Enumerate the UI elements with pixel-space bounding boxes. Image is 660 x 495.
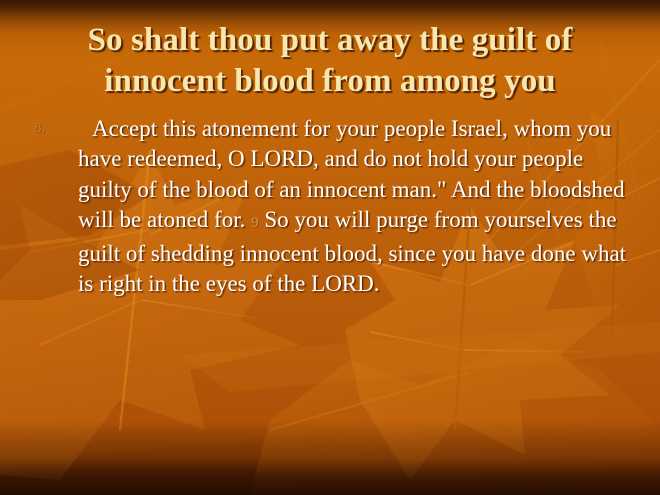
leaf-highlight-sweeps (0, 322, 660, 462)
scripture-paragraph: 8.Accept this atonement for your people … (34, 114, 628, 299)
verse-number-marker: 8. (34, 118, 45, 138)
inline-verse-number-marker: 9 (251, 215, 259, 231)
leaf-shape-center (250, 340, 660, 495)
presentation-slide: So shalt thou put away the guilt of inno… (0, 0, 660, 495)
slide-title: So shalt thou put away the guilt of inno… (26, 20, 634, 102)
slide-body: 8.Accept this atonement for your people … (34, 114, 628, 299)
